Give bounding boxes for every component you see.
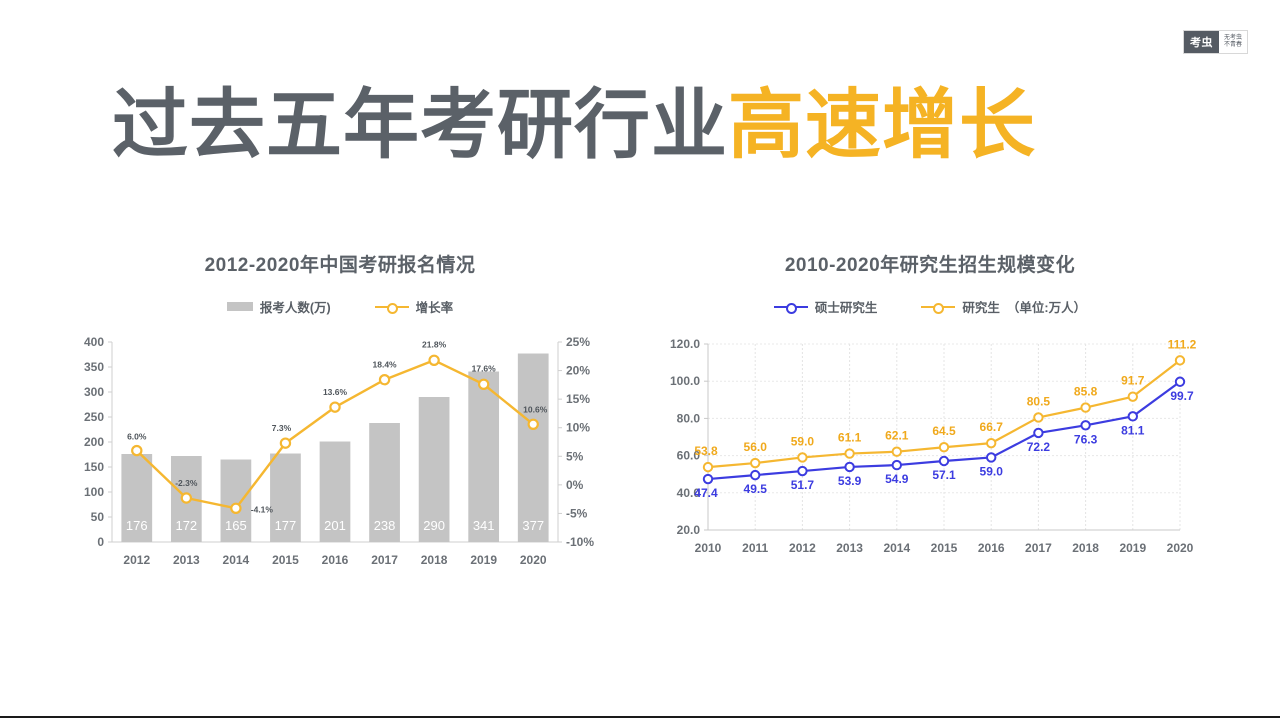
growth-rate-label: 6.0% <box>127 432 147 442</box>
line-point-marker <box>1129 412 1137 420</box>
line-point-marker <box>987 453 995 461</box>
y-axis-tick-label: 120.0 <box>670 337 700 351</box>
growth-rate-label: 7.3% <box>272 423 292 433</box>
data-point-label: 59.0 <box>980 464 1004 478</box>
y2-axis-tick-label: -10% <box>566 535 594 549</box>
line-point-marker <box>893 447 901 455</box>
line-point-marker <box>1034 429 1042 437</box>
x-axis-tick-label: 2018 <box>421 553 448 567</box>
left-plot-area: 050100150200250300350400-10%-5%0%5%10%15… <box>70 332 610 582</box>
y-axis-tick-label: 50 <box>91 510 105 524</box>
data-point-label: 53.8 <box>694 444 718 458</box>
legend-label-applicants: 报考人数(万) <box>260 297 331 316</box>
growth-rate-label: -2.3% <box>175 478 198 488</box>
line-point-marker <box>751 471 759 479</box>
y-axis-tick-label: 300 <box>84 385 104 399</box>
x-axis-tick-label: 2011 <box>742 541 768 555</box>
x-axis-tick-label: 2016 <box>322 553 349 567</box>
line-point-marker <box>845 449 853 457</box>
data-point-label: 91.7 <box>1121 374 1145 388</box>
y-axis-tick-label: 200 <box>84 435 104 449</box>
line-point-marker <box>751 459 759 467</box>
left-chart-title: 2012-2020年中国考研报名情况 <box>70 250 610 277</box>
data-point-label: 76.3 <box>1074 432 1098 446</box>
line-swatch-icon <box>774 302 808 312</box>
x-axis-tick-label: 2012 <box>789 541 816 555</box>
line-point-marker <box>1129 392 1137 400</box>
data-point-label: 61.1 <box>838 431 862 445</box>
y-axis-tick-label: 100.0 <box>670 374 700 388</box>
data-point-label: 64.5 <box>932 424 956 438</box>
x-axis-tick-label: 2018 <box>1072 541 1099 555</box>
x-axis-tick-label: 2012 <box>123 553 150 567</box>
bar-value-label: 341 <box>473 518 495 533</box>
legend-label-growth-rate: 增长率 <box>416 297 454 316</box>
growth-rate-label: 21.8% <box>422 339 447 349</box>
line-point-marker <box>940 457 948 465</box>
line-point-marker <box>940 443 948 451</box>
slide-root: 考虫 无考虫 不青春 过去五年考研行业高速增长 2012-2020年中国考研报名… <box>0 0 1280 718</box>
line-point-marker <box>1081 403 1089 411</box>
x-axis-tick-label: 2013 <box>173 553 200 567</box>
bar-value-label: 377 <box>522 518 544 533</box>
page-title-accent: 高速增长 <box>728 83 1036 168</box>
left-chart-panel: 2012-2020年中国考研报名情况 报考人数(万) 增长率 050100150… <box>70 250 610 582</box>
y2-axis-tick-label: 20% <box>566 364 590 378</box>
line-point-marker <box>704 463 712 471</box>
line-point-marker <box>380 375 389 384</box>
growth-rate-label: 13.6% <box>323 387 348 397</box>
growth-rate-label: 18.4% <box>373 360 398 370</box>
x-axis-tick-label: 2015 <box>931 541 958 555</box>
growth-rate-label: 10.6% <box>523 404 548 414</box>
line-point-marker <box>182 493 191 502</box>
x-axis-tick-label: 2019 <box>1119 541 1146 555</box>
data-point-label: 47.4 <box>694 486 718 500</box>
bar-value-label: 176 <box>126 518 148 533</box>
left-chart-legend: 报考人数(万) 增长率 <box>70 297 610 316</box>
growth-rate-label: 17.6% <box>472 363 497 373</box>
brand-tagline-line2: 不青春 <box>1224 42 1242 49</box>
right-chart-legend: 硕士研究生 研究生 （单位:万人） <box>650 297 1210 316</box>
line-point-marker <box>845 463 853 471</box>
legend-label-masters: 硕士研究生 <box>815 297 878 316</box>
line-point-marker <box>430 356 439 365</box>
y-axis-tick-label: 80.0 <box>677 411 701 425</box>
x-axis-tick-label: 2014 <box>883 541 910 555</box>
data-point-label: 51.7 <box>791 478 815 492</box>
data-point-label: 85.8 <box>1074 385 1098 399</box>
data-point-label: 56.0 <box>744 440 768 454</box>
y-axis-tick-label: 20.0 <box>677 523 701 537</box>
growth-rate-label: -4.1% <box>251 504 274 514</box>
right-chart-svg: 20.040.060.080.0100.0120.053.856.059.061… <box>650 332 1210 582</box>
brand-tagline-line1: 无考虫 <box>1224 35 1242 42</box>
line-point-marker <box>987 439 995 447</box>
bar <box>468 372 499 543</box>
line-point-marker <box>479 380 488 389</box>
data-point-label: 49.5 <box>744 482 768 496</box>
line-point-marker <box>529 420 538 429</box>
x-axis-tick-label: 2017 <box>371 553 398 567</box>
right-chart-title: 2010-2020年研究生招生规模变化 <box>650 250 1210 277</box>
x-axis-tick-label: 2014 <box>223 553 250 567</box>
bar <box>518 354 549 543</box>
brand-watermark: 考虫 无考虫 不青春 <box>1183 30 1248 54</box>
line-point-marker <box>281 439 290 448</box>
x-axis-tick-label: 2013 <box>836 541 863 555</box>
y-axis-tick-label: 0 <box>97 535 104 549</box>
bar-value-label: 172 <box>175 518 197 533</box>
y2-axis-tick-label: 15% <box>566 392 590 406</box>
legend-item-postgraduates: 研究生 （单位:万人） <box>921 297 1086 316</box>
x-axis-tick-label: 2017 <box>1025 541 1052 555</box>
data-point-label: 80.5 <box>1027 394 1051 408</box>
legend-item-growth-rate: 增长率 <box>375 297 454 316</box>
data-point-label: 81.1 <box>1121 423 1145 437</box>
data-point-label: 59.0 <box>791 434 815 448</box>
line-point-marker <box>1176 356 1184 364</box>
y2-axis-tick-label: 5% <box>566 449 584 463</box>
line-point-marker <box>132 446 141 455</box>
right-chart-panel: 2010-2020年研究生招生规模变化 硕士研究生 研究生 （单位:万人） 20… <box>650 250 1210 582</box>
line-point-marker <box>1176 378 1184 386</box>
line-swatch-icon <box>921 302 955 312</box>
line-swatch-icon <box>375 302 409 312</box>
page-title: 过去五年考研行业高速增长 <box>112 84 1036 168</box>
line-point-marker <box>704 475 712 483</box>
data-point-label: 72.2 <box>1027 440 1051 454</box>
bar-value-label: 177 <box>275 518 297 533</box>
data-point-label: 53.9 <box>838 474 862 488</box>
line-point-marker <box>1034 413 1042 421</box>
x-axis-tick-label: 2010 <box>695 541 722 555</box>
data-point-label: 99.7 <box>1170 389 1194 403</box>
line-point-marker <box>231 504 240 513</box>
data-point-label: 57.1 <box>932 468 956 482</box>
x-axis-tick-label: 2019 <box>470 553 497 567</box>
brand-tagline: 无考虫 不青春 <box>1219 31 1247 53</box>
x-axis-tick-label: 2020 <box>1167 541 1194 555</box>
y2-axis-tick-label: -5% <box>566 506 588 520</box>
data-point-label: 66.7 <box>980 420 1004 434</box>
legend-item-masters: 硕士研究生 <box>774 297 878 316</box>
brand-name: 考虫 <box>1184 31 1219 53</box>
y-axis-tick-label: 100 <box>84 485 104 499</box>
y2-axis-tick-label: 0% <box>566 478 584 492</box>
x-axis-tick-label: 2015 <box>272 553 299 567</box>
bar-swatch-icon <box>227 302 253 311</box>
x-axis-tick-label: 2016 <box>978 541 1005 555</box>
data-point-label: 111.2 <box>1168 337 1197 351</box>
y2-axis-tick-label: 10% <box>566 421 590 435</box>
bar-value-label: 238 <box>374 518 396 533</box>
bar-value-label: 165 <box>225 518 247 533</box>
legend-label-postgraduates: 研究生 <box>962 297 1000 316</box>
y-axis-tick-label: 150 <box>84 460 104 474</box>
y-axis-tick-label: 250 <box>84 410 104 424</box>
bar-value-label: 290 <box>423 518 445 533</box>
legend-unit-note: （单位:万人） <box>1007 297 1086 316</box>
data-point-label: 62.1 <box>885 429 909 443</box>
line-point-marker <box>798 453 806 461</box>
line-point-marker <box>798 467 806 475</box>
y-axis-tick-label: 350 <box>84 360 104 374</box>
data-point-label: 54.9 <box>885 472 909 486</box>
y-axis-tick-label: 400 <box>84 335 104 349</box>
line-point-marker <box>330 403 339 412</box>
x-axis-tick-label: 2020 <box>520 553 547 567</box>
line-point-marker <box>893 461 901 469</box>
bar-value-label: 201 <box>324 518 346 533</box>
right-plot-area: 20.040.060.080.0100.0120.053.856.059.061… <box>650 332 1210 582</box>
legend-item-applicants: 报考人数(万) <box>227 297 331 316</box>
left-chart-svg: 050100150200250300350400-10%-5%0%5%10%15… <box>70 332 610 582</box>
line-point-marker <box>1081 421 1089 429</box>
y2-axis-tick-label: 25% <box>566 335 590 349</box>
page-title-primary: 过去五年考研行业 <box>112 83 728 168</box>
